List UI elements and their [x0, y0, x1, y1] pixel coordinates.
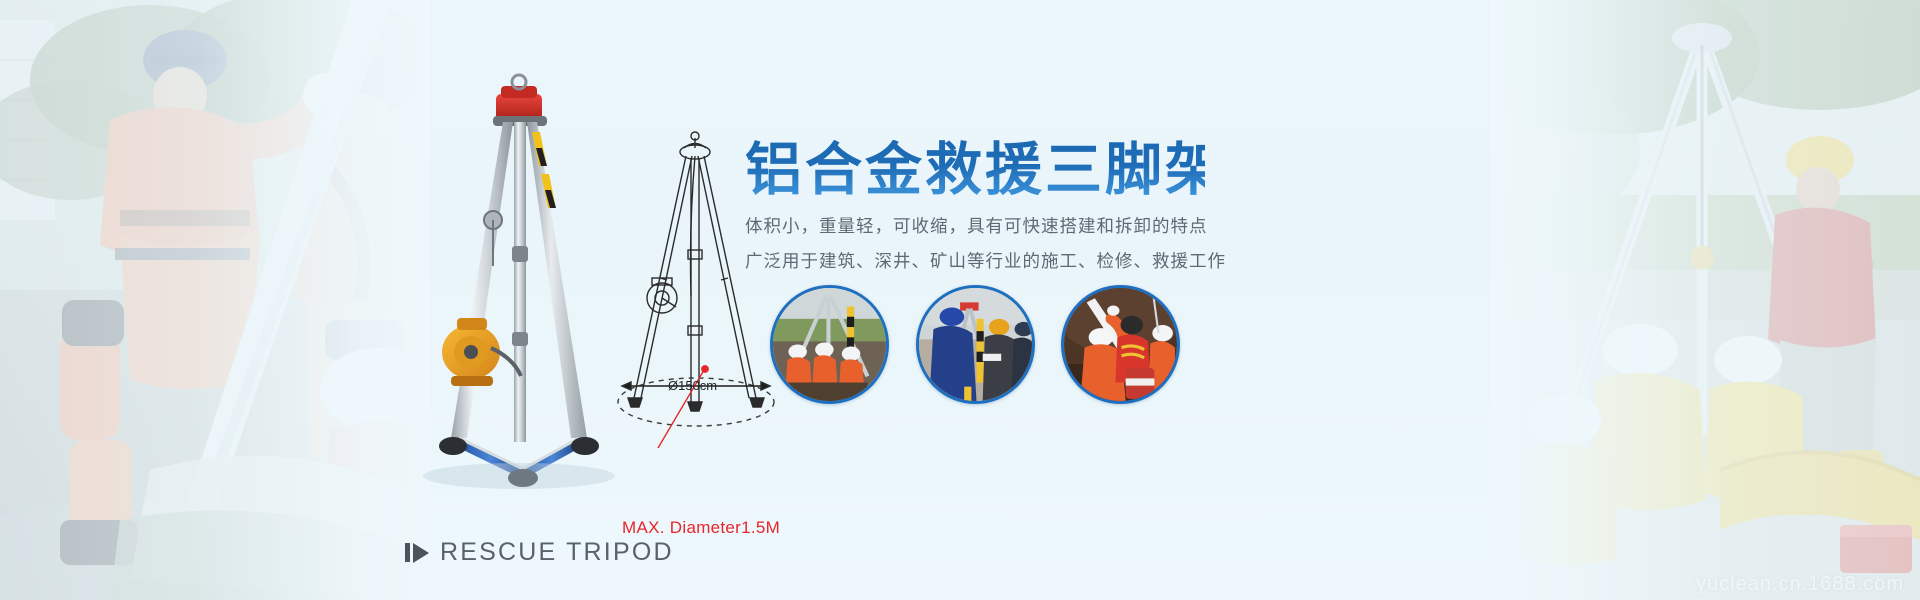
thumb-confined-space-art [1064, 288, 1177, 401]
thumbnail-row [770, 285, 1180, 404]
page-title: 铝合金救援三脚架 [745, 140, 1205, 200]
left-rescue-scene [0, 0, 430, 600]
diameter-annotation: Ø150cm [668, 378, 717, 393]
thumb-confined-space[interactable] [1061, 285, 1180, 404]
right-rescue-scene [1490, 0, 1920, 600]
play-bar-icon [405, 543, 429, 563]
thumb-site-operation-art [919, 288, 1032, 401]
thumb-well-rescue-art [773, 288, 886, 401]
headline-block: 铝合金救援三脚架 体积小，重量轻，可收缩，具有可快速搭建和拆卸的特点 广泛用于建… [745, 140, 1205, 273]
thumb-site-operation[interactable] [916, 285, 1035, 404]
max-diameter-annotation: MAX. Diameter1.5M [622, 518, 780, 538]
caption-label: RESCUE TRIPOD [440, 538, 674, 567]
site-watermark: yuclean.cn.1688.com [1696, 573, 1904, 596]
rescue-tripod-caption: RESCUE TRIPOD [405, 538, 674, 567]
rescue-tripod-banner: Ø150cm MAX. Diameter1.5M 铝合金救援三脚架 体积小，重量… [0, 0, 1920, 600]
right-photo-fade [1490, 0, 1920, 600]
thumb-well-rescue[interactable] [770, 285, 889, 404]
left-photo-fade [0, 0, 430, 600]
subtitle-line-1: 体积小，重量轻，可收缩，具有可快速搭建和拆卸的特点 [745, 213, 1205, 238]
subtitle-line-2: 广泛用于建筑、深井、矿山等行业的施工、检修、救援工作 [745, 248, 1205, 273]
